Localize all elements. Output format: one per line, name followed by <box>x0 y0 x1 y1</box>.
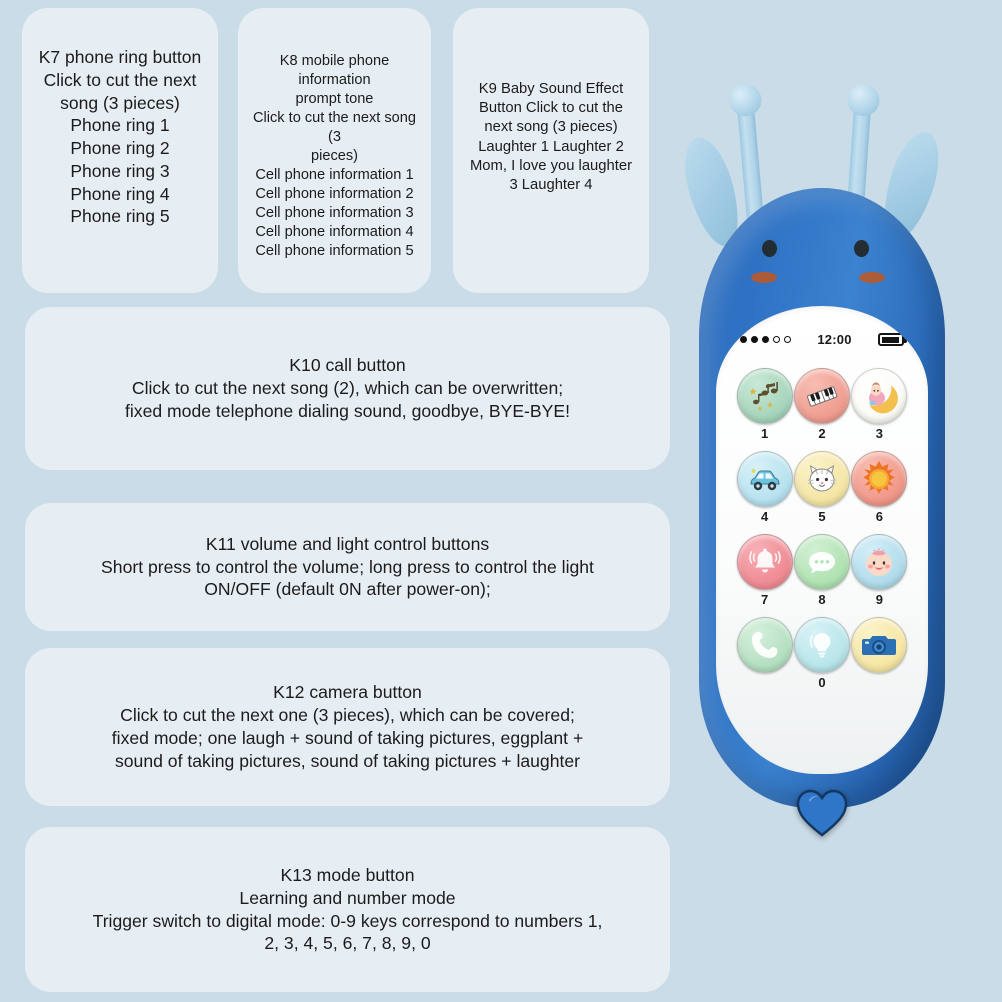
card-k11-line-0: K11 volume and light control buttons <box>43 533 652 556</box>
card-k9-line-4: Mom, I love you laughter <box>463 157 639 176</box>
card-k7-line-7: Phone ring 5 <box>30 205 210 228</box>
heart-button[interactable] <box>794 788 850 838</box>
key-cell-camera <box>851 617 907 690</box>
card-k13-line-0: K13 mode button <box>43 864 652 887</box>
face-cheek-left-icon <box>751 272 777 283</box>
key-cell-0: 0 <box>794 617 850 690</box>
card-k7-line-5: Phone ring 3 <box>30 160 210 183</box>
card-k8-line-8: Cell phone information 5 <box>246 242 423 261</box>
key-cell-8: 8 <box>794 534 850 607</box>
card-k11-line-2: ON/OFF (default 0N after power-on); <box>43 578 652 601</box>
phone-body: 12:00 <box>699 188 945 808</box>
battery-icon <box>878 333 904 346</box>
card-k8-line-5: Cell phone information 2 <box>246 185 423 204</box>
key-button-1[interactable] <box>737 368 793 424</box>
key-label-8: 8 <box>794 592 850 607</box>
card-k12-line-0: K12 camera button <box>43 681 652 704</box>
face-eye-right-icon <box>854 240 869 257</box>
card-k8-line-6: Cell phone information 3 <box>246 204 423 223</box>
sun-icon <box>859 459 899 499</box>
card-k9-line-0: K9 Baby Sound Effect <box>463 80 639 99</box>
signal-dot-empty <box>773 336 780 343</box>
card-k8-line-1: prompt tone <box>246 90 423 109</box>
antenna-left-ball-icon <box>728 83 763 118</box>
key-cell-5: 5 <box>794 451 850 524</box>
key-label-call <box>737 675 793 690</box>
signal-dot-filled <box>751 336 758 343</box>
face-cheek-right-icon <box>859 272 885 283</box>
key-cell-call <box>737 617 793 690</box>
key-cell-7: 7 <box>737 534 793 607</box>
cat-icon <box>803 460 841 498</box>
piano-icon <box>802 376 842 416</box>
antenna-left-icon <box>737 103 764 224</box>
key-cell-9: 9 <box>851 534 907 607</box>
key-button-camera[interactable] <box>851 617 907 673</box>
card-k7-line-1: Click to cut the next <box>30 69 210 92</box>
face-eye-left-icon <box>762 240 777 257</box>
signal-strength-icon <box>740 336 791 343</box>
car-icon <box>745 459 785 499</box>
key-label-camera <box>851 675 907 690</box>
camera-icon <box>859 625 899 665</box>
key-button-2[interactable] <box>794 368 850 424</box>
key-cell-1: 1 <box>737 368 793 441</box>
key-button-9[interactable] <box>851 534 907 590</box>
card-k12-line-3: sound of taking pictures, sound of takin… <box>43 750 652 773</box>
key-button-4[interactable] <box>737 451 793 507</box>
key-cell-4: 4 <box>737 451 793 524</box>
card-k8-line-2: Click to cut the next song (3 <box>246 109 423 147</box>
card-k9-line-1: Button Click to cut the <box>463 99 639 118</box>
baby-face-icon <box>859 542 899 582</box>
card-k7-line-2: song (3 pieces) <box>30 92 210 115</box>
card-k7-line-4: Phone ring 2 <box>30 137 210 160</box>
card-k9-line-3: Laughter 1 Laughter 2 <box>463 138 639 157</box>
signal-dot-empty <box>784 336 791 343</box>
status-bar: 12:00 <box>716 332 928 347</box>
info-card-k12: K12 camera button Click to cut the next … <box>25 648 670 806</box>
antenna-right-ball-icon <box>846 83 880 117</box>
signal-dot-filled <box>740 336 747 343</box>
phone-front-panel: 12:00 <box>716 306 928 774</box>
key-label-0: 0 <box>794 675 850 690</box>
card-k7-line-3: Phone ring 1 <box>30 114 210 137</box>
card-k13-line-1: Learning and number mode <box>43 887 652 910</box>
key-button-8[interactable] <box>794 534 850 590</box>
toy-phone-product: 12:00 <box>664 88 1002 828</box>
card-k8-line-7: Cell phone information 4 <box>246 223 423 242</box>
info-card-k8: K8 mobile phone information prompt tone … <box>238 8 431 293</box>
key-label-9: 9 <box>851 592 907 607</box>
info-card-k10: K10 call button Click to cut the next so… <box>25 307 670 470</box>
key-label-1: 1 <box>737 426 793 441</box>
card-k8-line-3: pieces) <box>246 147 423 166</box>
key-button-0[interactable] <box>794 617 850 673</box>
card-k7-line-0: K7 phone ring button <box>30 46 210 69</box>
card-k7-line-6: Phone ring 4 <box>30 183 210 206</box>
info-card-k7: K7 phone ring button Click to cut the ne… <box>22 8 218 293</box>
card-k12-line-2: fixed mode; one laugh + sound of taking … <box>43 727 652 750</box>
phone-handset-icon <box>747 627 783 663</box>
card-k13-line-2: Trigger switch to digital mode: 0-9 keys… <box>43 910 652 933</box>
key-button-6[interactable] <box>851 451 907 507</box>
key-button-5[interactable] <box>794 451 850 507</box>
chat-bubble-icon <box>803 543 841 581</box>
key-cell-6: 6 <box>851 451 907 524</box>
card-k11-line-1: Short press to control the volume; long … <box>43 556 652 579</box>
key-label-4: 4 <box>737 509 793 524</box>
key-label-5: 5 <box>794 509 850 524</box>
clock-display: 12:00 <box>817 332 851 347</box>
moon-baby-icon <box>858 375 900 417</box>
card-k10-line-1: Click to cut the next song (2), which ca… <box>43 377 652 400</box>
card-k9-line-5: 3 Laughter 4 <box>463 176 639 195</box>
card-k8-line-4: Cell phone information 1 <box>246 166 423 185</box>
keypad-grid: 1 <box>716 368 928 690</box>
card-k12-line-1: Click to cut the next one (3 pieces), wh… <box>43 704 652 727</box>
key-label-7: 7 <box>737 592 793 607</box>
key-button-call[interactable] <box>737 617 793 673</box>
lightbulb-icon <box>803 626 841 664</box>
infographic-stage: K7 phone ring button Click to cut the ne… <box>0 0 1002 1002</box>
key-button-7[interactable] <box>737 534 793 590</box>
music-notes-icon <box>746 377 784 415</box>
signal-dot-filled <box>762 336 769 343</box>
info-card-k9: K9 Baby Sound Effect Button Click to cut… <box>453 8 649 293</box>
key-cell-2: 2 <box>794 368 850 441</box>
key-label-6: 6 <box>851 509 907 524</box>
card-k8-line-0: K8 mobile phone information <box>246 52 423 90</box>
card-k9-line-2: next song (3 pieces) <box>463 118 639 137</box>
key-button-3[interactable] <box>851 368 907 424</box>
info-card-k11: K11 volume and light control buttons Sho… <box>25 503 670 631</box>
bell-icon <box>746 543 784 581</box>
heart-icon <box>794 788 850 838</box>
card-k13-line-3: 2, 3, 4, 5, 6, 7, 8, 9, 0 <box>43 932 652 955</box>
card-k10-line-2: fixed mode telephone dialing sound, good… <box>43 400 652 423</box>
key-cell-3: 3 <box>851 368 907 441</box>
key-label-3: 3 <box>851 426 907 441</box>
key-label-2: 2 <box>794 426 850 441</box>
info-card-k13: K13 mode button Learning and number mode… <box>25 827 670 992</box>
card-k10-line-0: K10 call button <box>43 354 652 377</box>
